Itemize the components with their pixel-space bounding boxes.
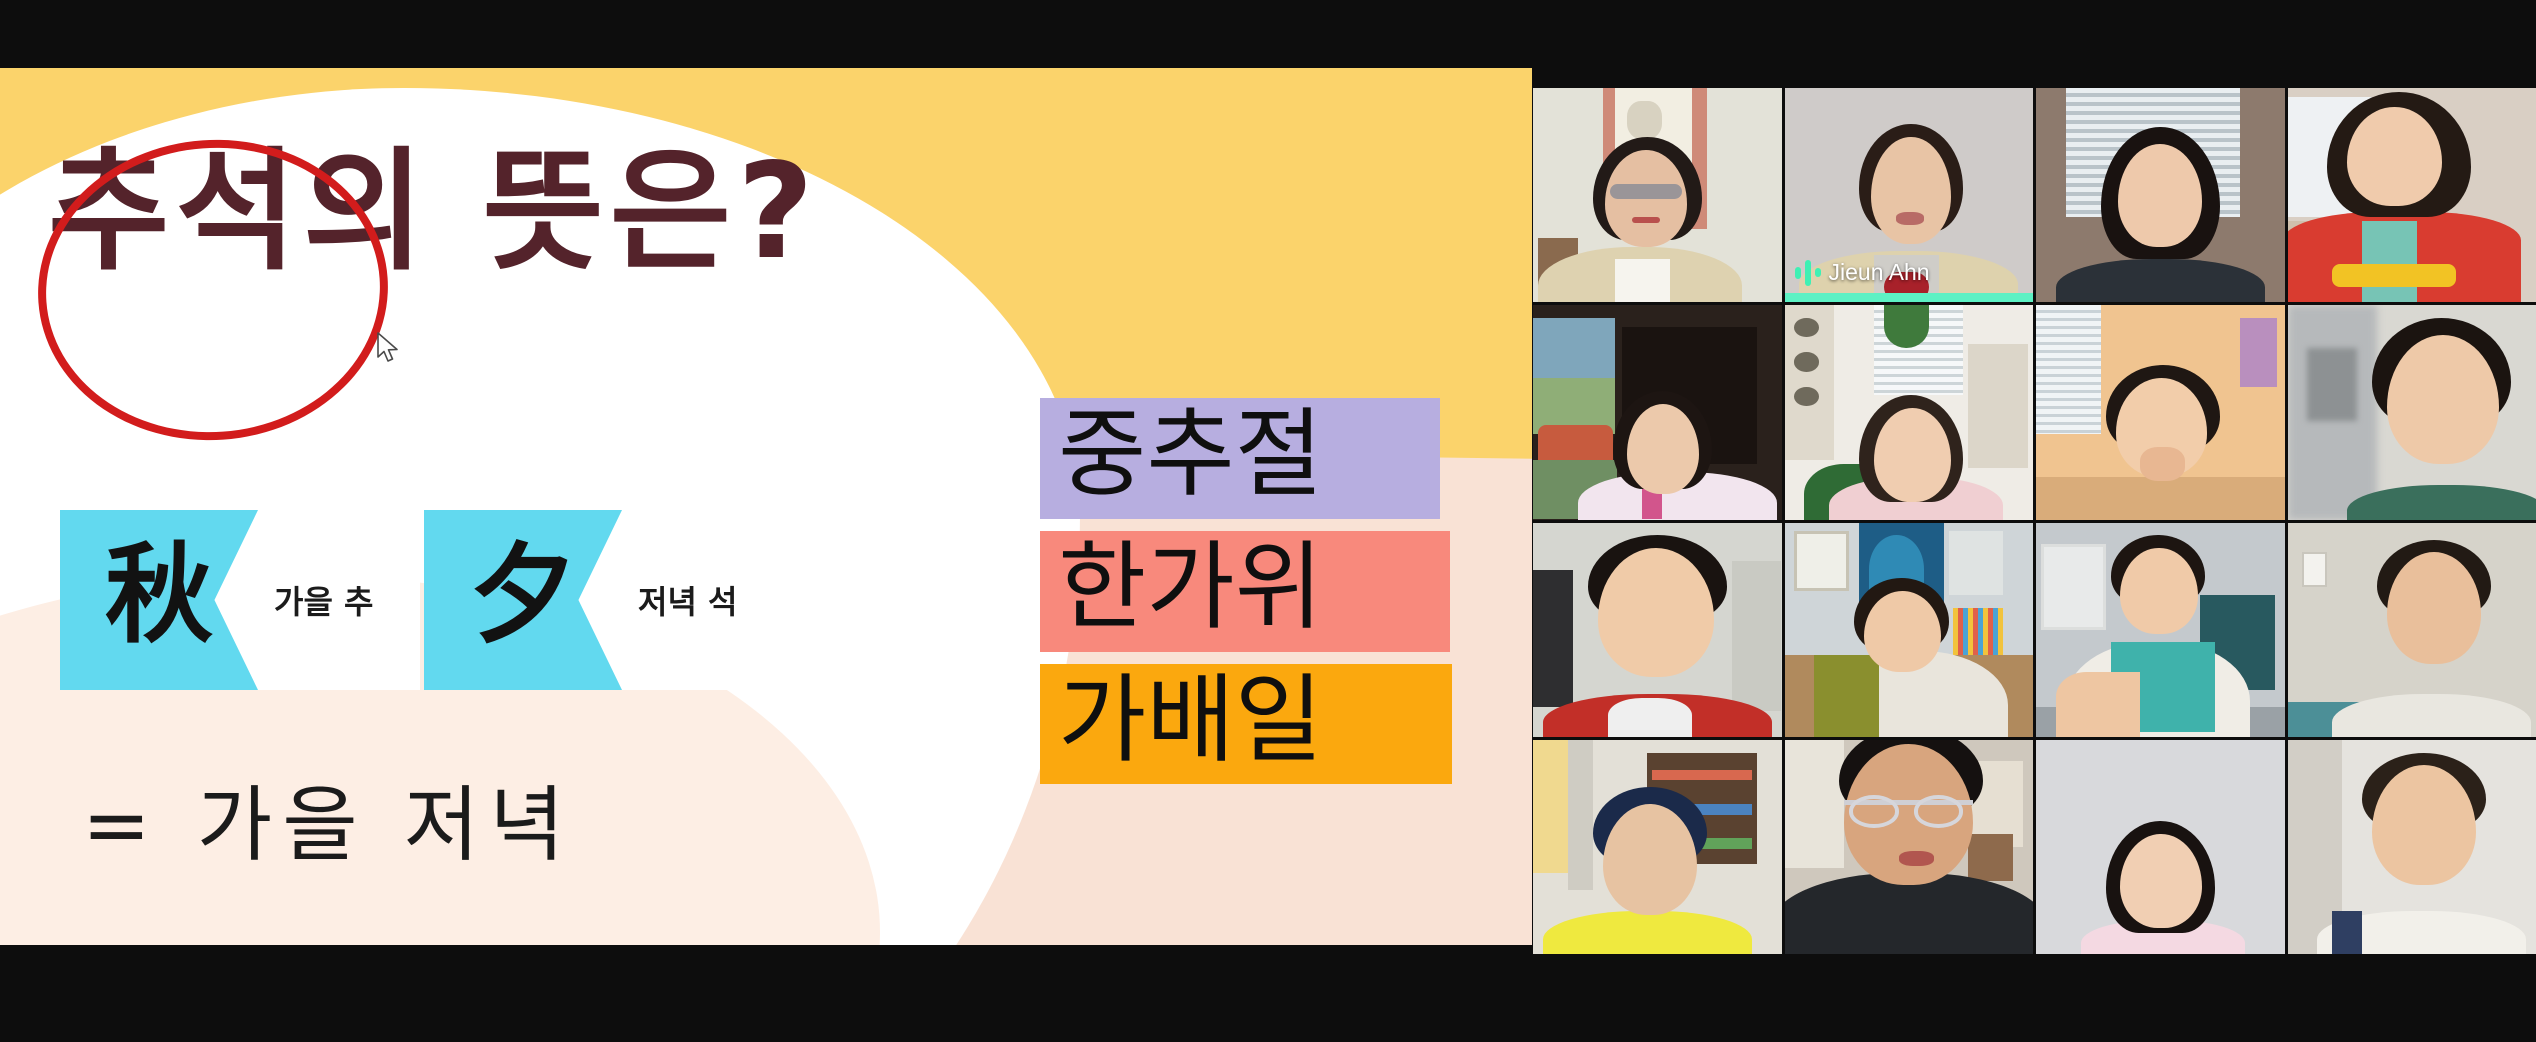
hanja-card-row: 秋 가을 추 夕 저녁 석 xyxy=(60,510,784,690)
video-tile[interactable] xyxy=(1533,740,1782,954)
active-speaker-indicator xyxy=(1785,293,2034,302)
word-box-hangawi: 한가위 xyxy=(1040,531,1450,652)
video-tile[interactable] xyxy=(1533,88,1782,302)
video-tile[interactable] xyxy=(2036,523,2285,737)
video-tile[interactable] xyxy=(2036,740,2285,954)
video-tile[interactable] xyxy=(2288,523,2536,737)
hanja-character: 秋 xyxy=(60,542,258,658)
hanja-character: 夕 xyxy=(424,542,622,658)
video-tile[interactable] xyxy=(1785,305,2034,519)
video-tile[interactable] xyxy=(1785,740,2034,954)
video-tile[interactable] xyxy=(1785,523,2034,737)
word-box-gabaeil: 가배일 xyxy=(1040,664,1452,785)
shared-screen-slide[interactable]: 추석의 뜻은? 秋 가을 추 夕 저녁 석 = 가을 저녁 중추절 한가위 가배… xyxy=(0,68,1532,945)
hanja-card: 夕 저녁 석 xyxy=(424,510,784,690)
hanja-reading: 저녁 석 xyxy=(638,577,737,623)
slide-equation: = 가을 저녁 xyxy=(82,758,575,877)
video-tile[interactable] xyxy=(1533,305,1782,519)
participant-video-grid[interactable]: Jieun Ahn xyxy=(1533,0,2536,1042)
video-tile[interactable] xyxy=(2036,88,2285,302)
video-tile[interactable] xyxy=(2288,88,2536,302)
mouse-cursor-icon xyxy=(376,332,402,366)
word-box-jungchujeol: 중추절 xyxy=(1040,398,1440,519)
video-tile-jieun-ahn[interactable]: Jieun Ahn xyxy=(1785,88,2034,302)
audio-level-icon xyxy=(1795,260,1821,286)
participant-name-label: Jieun Ahn xyxy=(1795,259,1930,286)
hanja-card: 秋 가을 추 xyxy=(60,510,420,690)
video-tile[interactable] xyxy=(2288,305,2536,519)
video-tile[interactable] xyxy=(2288,740,2536,954)
video-tile[interactable] xyxy=(1533,523,1782,737)
hanja-reading: 가을 추 xyxy=(274,577,373,623)
participant-name-text: Jieun Ahn xyxy=(1829,259,1930,286)
video-tile[interactable] xyxy=(2036,305,2285,519)
synonym-word-stack: 중추절 한가위 가배일 xyxy=(1040,398,1452,784)
